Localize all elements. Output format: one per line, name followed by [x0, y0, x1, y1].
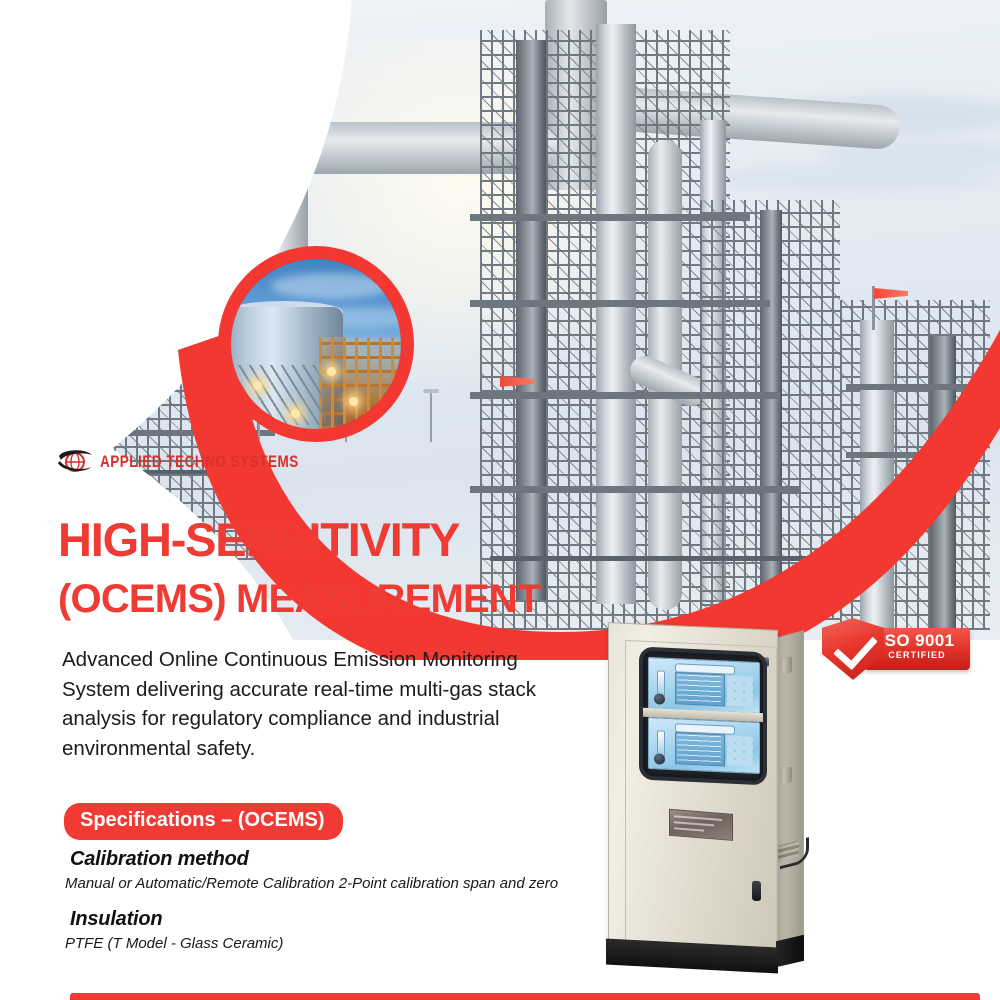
inset-light	[381, 417, 390, 426]
spec-title: Insulation	[70, 908, 582, 931]
specifications-badge: Specifications – (OCEMS)	[64, 803, 343, 840]
inset-process-rig	[319, 337, 414, 429]
structure	[846, 384, 974, 390]
structure	[470, 392, 780, 399]
logo-wordmark: APPLIED TECHNO SYSTEMS	[100, 453, 299, 472]
checkmark-icon	[833, 625, 878, 671]
inset-light	[349, 397, 358, 406]
inset-light	[327, 367, 336, 376]
inset-stairway	[233, 365, 325, 425]
cabinet-side-panel	[774, 630, 804, 955]
structure	[470, 214, 750, 221]
analyzer-screen	[648, 657, 760, 714]
circle-inset-photo	[218, 246, 414, 442]
structure	[470, 486, 800, 493]
spec-item: Calibration method Manual or Automatic/R…	[62, 848, 582, 894]
structure	[846, 452, 974, 458]
nameplate-line	[674, 821, 714, 826]
product-image	[600, 618, 820, 983]
screen-data-rows	[677, 734, 721, 762]
specifications-list: Calibration method Manual or Automatic/R…	[62, 848, 582, 969]
process-column	[930, 336, 956, 630]
screen-data-rows	[677, 674, 721, 702]
power-cable	[780, 837, 809, 869]
nameplate-line	[674, 827, 704, 831]
hinge-icon	[783, 766, 792, 784]
screen-keypad	[727, 676, 753, 707]
nameplate-line	[674, 815, 722, 821]
inset-light	[291, 409, 300, 418]
iso-certification-badge: ISO 9001 CERTIFIED	[822, 618, 970, 678]
hinge-icon	[783, 656, 792, 674]
page-title: HIGH-SENSITIVITY (OCEMS) MEASUREMENT	[58, 516, 618, 620]
light-pole	[430, 392, 432, 442]
inset-cloud	[271, 273, 391, 299]
spec-title: Calibration method	[70, 848, 582, 871]
analyzer-screen	[648, 717, 760, 774]
description-paragraph: Advanced Online Continuous Emission Moni…	[62, 645, 572, 764]
footer-bar	[70, 993, 980, 1000]
windsock	[874, 288, 908, 299]
flyer-page: APPLIED TECHNO SYSTEMS HIGH-SENSITIVITY …	[0, 0, 1000, 1000]
headline-line-1: HIGH-SENSITIVITY	[58, 516, 618, 564]
headline-line-2: (OCEMS) MEASUREMENT	[58, 578, 618, 620]
cabinet-nameplate	[669, 809, 733, 841]
structure	[212, 350, 215, 442]
process-column	[760, 210, 782, 610]
cabinet-plinth-side	[776, 935, 804, 967]
cabinet-body	[608, 622, 778, 957]
screen-knob	[654, 753, 665, 764]
structure	[470, 300, 770, 307]
shield-check-icon	[822, 618, 884, 680]
door-handle	[752, 881, 761, 901]
process-column	[860, 320, 894, 630]
screen-knob	[654, 693, 665, 704]
spec-item: Insulation PTFE (T Model - Glass Ceramic…	[62, 908, 582, 954]
spec-value: Manual or Automatic/Remote Calibration 2…	[65, 874, 582, 894]
globe-swoosh-icon	[57, 448, 93, 476]
company-logo[interactable]: APPLIED TECHNO SYSTEMS	[57, 448, 342, 476]
spec-value: PTFE (T Model - Glass Ceramic)	[65, 934, 582, 954]
viewing-window	[639, 647, 767, 786]
screen-keypad	[727, 736, 753, 767]
inset-light	[253, 381, 262, 390]
